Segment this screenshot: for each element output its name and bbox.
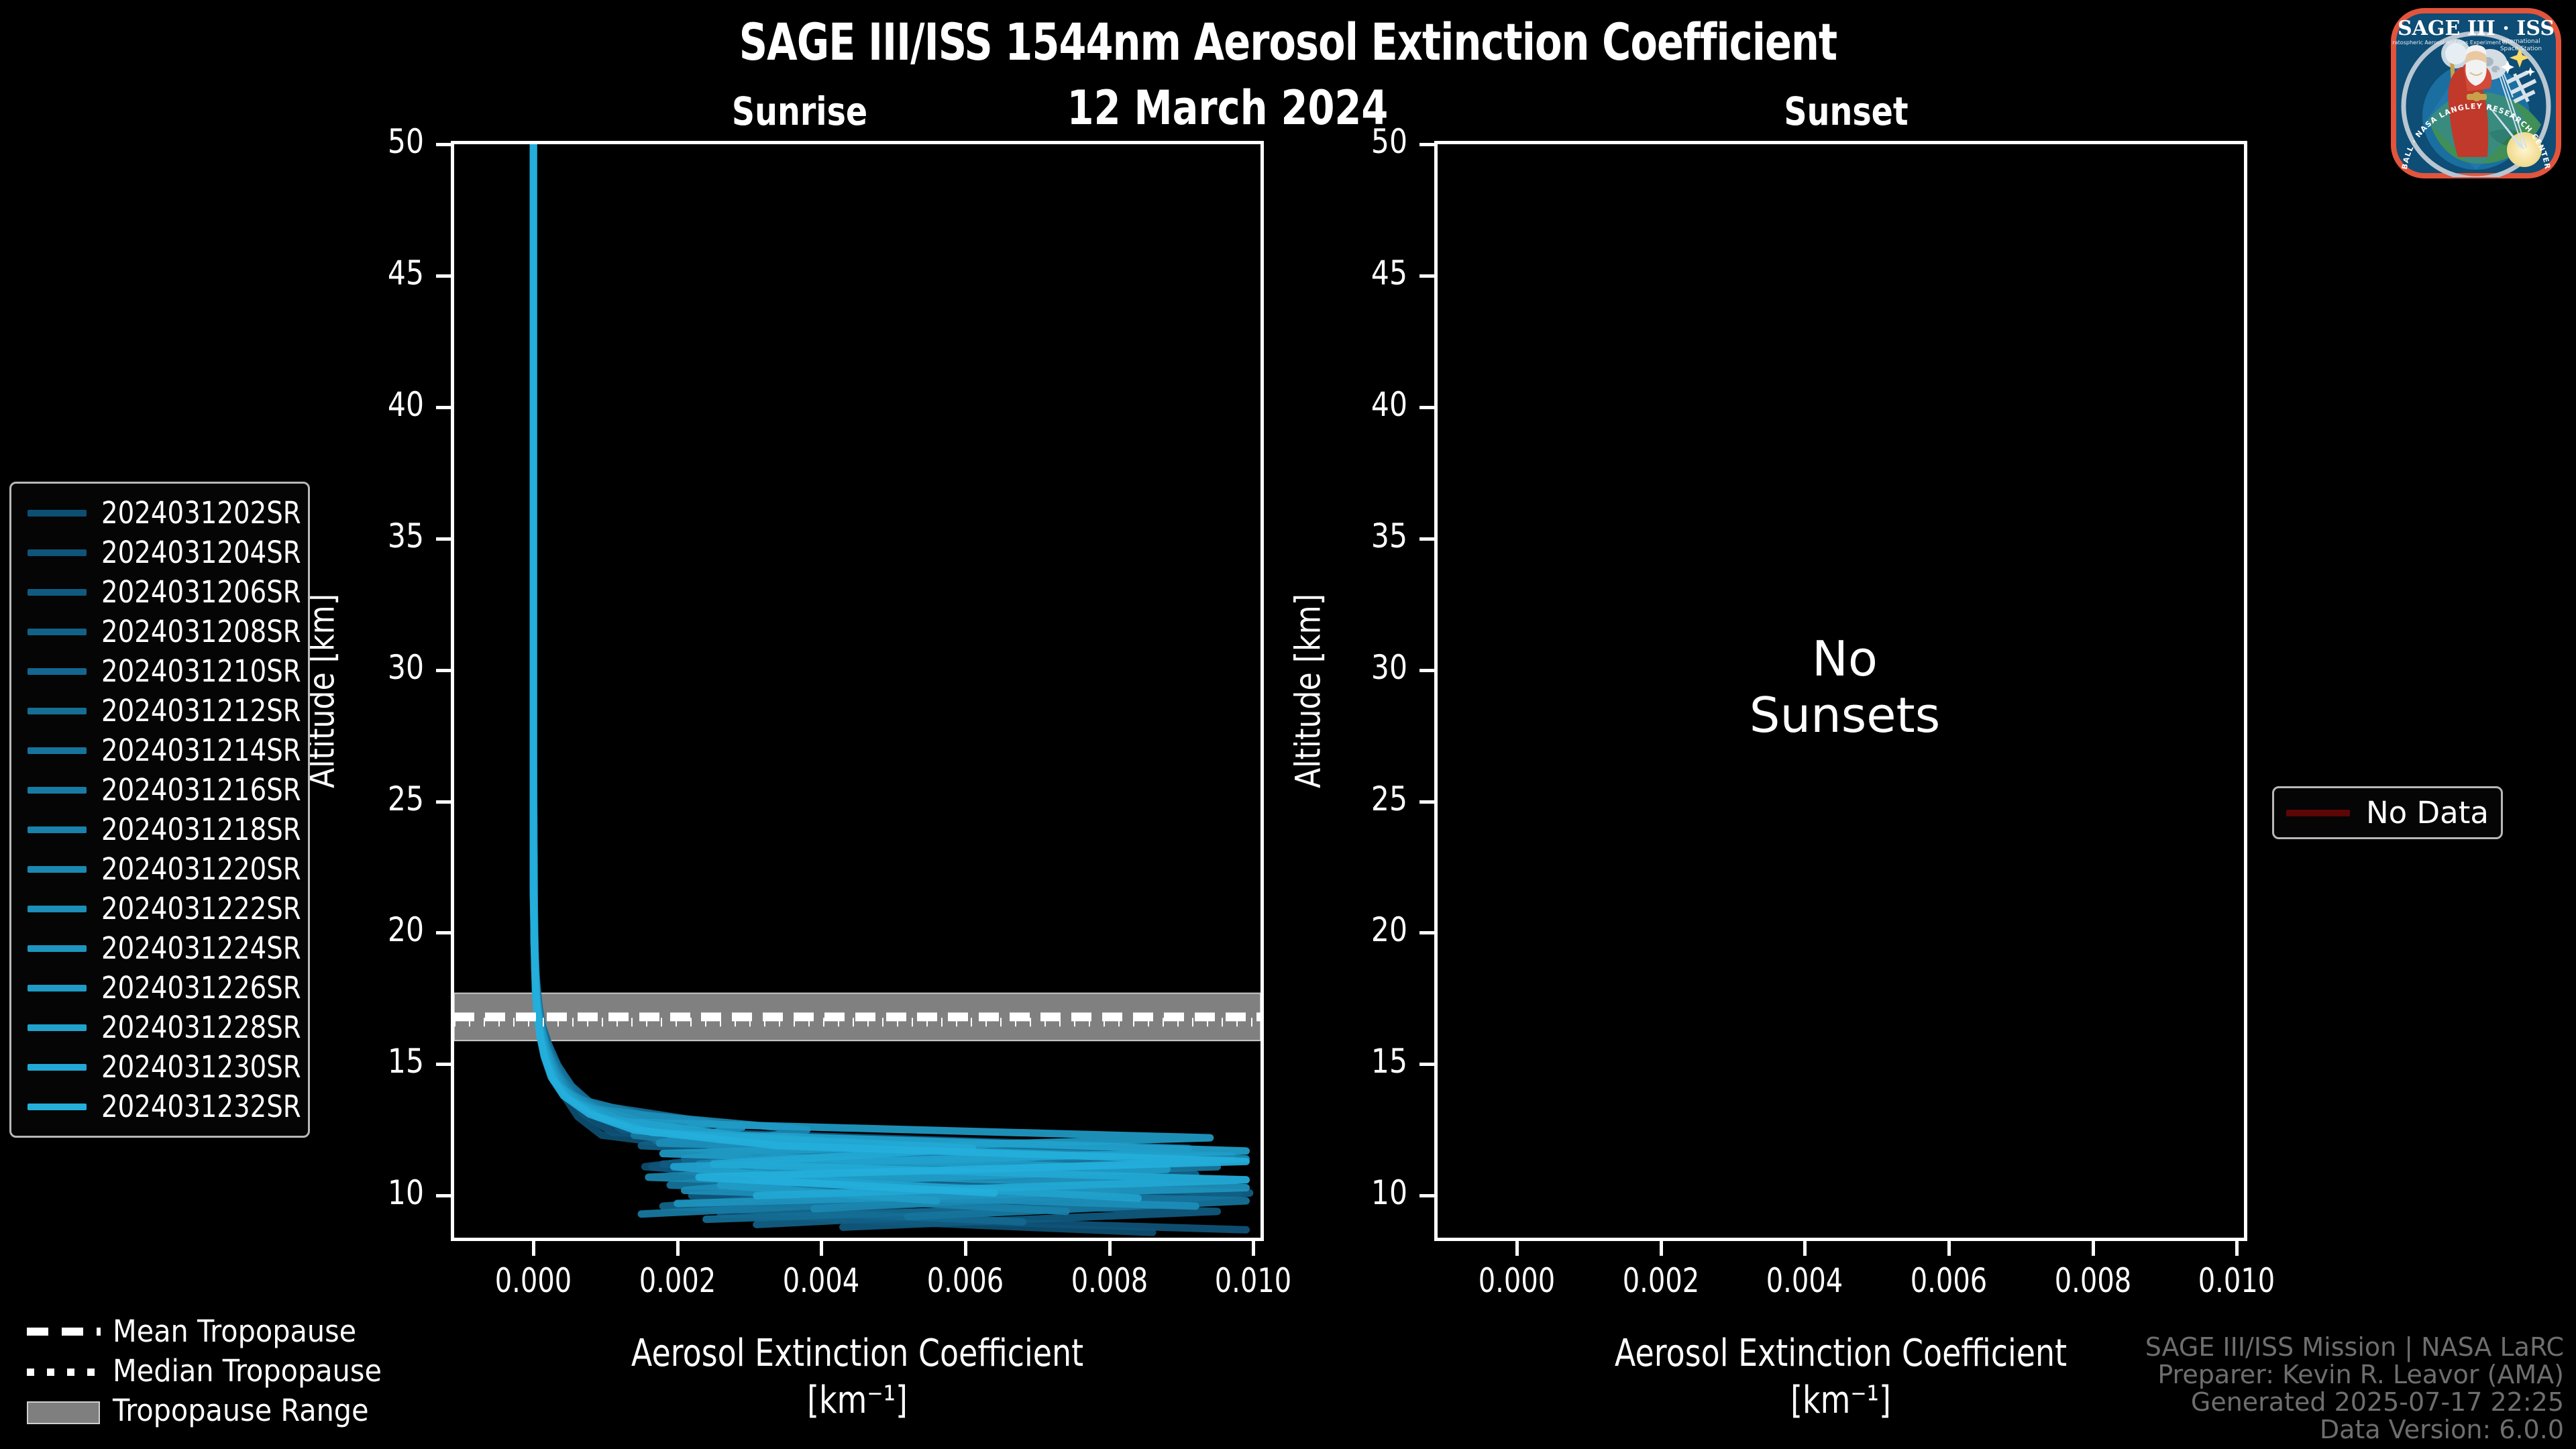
sunset-y-tick-label: 35 [1316,517,1407,555]
legend-item-label: 2024031218SR [101,812,301,847]
series-line-2024031210SR [533,144,1195,1222]
legend-item-label: 2024031210SR [101,653,301,689]
sunrise-x-tick-label: 0.008 [1051,1261,1169,1300]
sunrise-y-tick [436,143,451,146]
series-legend[interactable]: 2024031202SR2024031204SR2024031206SR2024… [9,482,310,1138]
legend-swatch-icon [28,1104,87,1110]
tropopause-legend-label: Median Tropopause [113,1353,382,1389]
no-data-label: No Data [2366,795,2489,830]
sunset-y-tick-label: 25 [1316,780,1407,818]
legend-item-2024031210SR[interactable]: 2024031210SR [18,651,301,691]
sunset-y-tick-label: 20 [1316,910,1407,949]
sunset-y-tick [1419,931,1434,934]
sunrise-y-tick-label: 15 [333,1042,424,1081]
tropopause-legend-item-dotted: Median Tropopause [13,1351,362,1391]
sunset-x-tick [2235,1241,2239,1256]
legend-swatch-icon [28,1064,87,1071]
sunset-x-axis-unit: [km⁻¹] [1507,1379,2174,1422]
sunrise-x-axis-unit: [km⁻¹] [524,1379,1191,1422]
legend-item-label: 2024031206SR [101,574,301,610]
legend-swatch-icon [28,589,87,596]
no-sunsets-message: No Sunsets [1610,631,2080,743]
series-line-2024031206SR [533,144,1218,1227]
legend-item-label: 2024031212SR [101,693,301,729]
sunrise-x-tick [532,1241,535,1256]
legend-item-2024031226SR[interactable]: 2024031226SR [18,968,301,1008]
series-line-2024031222SR [533,144,1246,1206]
series-line-2024031212SR [533,144,1232,1220]
logo-subtitle-right-2: Space Station [2500,46,2542,52]
legend-item-2024031202SR[interactable]: 2024031202SR [18,493,301,533]
legend-swatch-icon [28,549,87,556]
legend-item-2024031214SR[interactable]: 2024031214SR [18,731,301,770]
sunrise-x-tick-label: 0.004 [762,1261,880,1300]
legend-swatch-icon [28,510,87,517]
sunset-x-tick-label: 0.002 [1602,1261,1720,1300]
legend-item-label: 2024031214SR [101,733,301,768]
sunset-y-tick [1419,1063,1434,1066]
footer-credits: SAGE III/ISS Mission | NASA LaRC Prepare… [2145,1334,2564,1444]
sunset-y-tick-label: 40 [1316,385,1407,424]
sunrise-y-tick [436,274,451,278]
legend-item-label: 2024031226SR [101,970,301,1006]
series-line-2024031220SR [533,144,1116,1209]
legend-swatch-icon [28,747,87,754]
sunset-y-tick [1419,800,1434,804]
sunrise-y-tick [436,1063,451,1066]
logo-title: SAGE III · ISS [2398,17,2555,40]
sunrise-x-tick [820,1241,823,1256]
sunrise-y-tick-label: 40 [333,385,424,424]
legend-item-2024031232SR[interactable]: 2024031232SR [18,1087,301,1126]
sunset-y-tick [1419,537,1434,541]
sunset-x-tick [2092,1241,2095,1256]
sunset-x-tick [1660,1241,1663,1256]
sunrise-x-axis-label: Aerosol Extinction Coefficient [524,1332,1191,1375]
footer-preparer: Preparer: Kevin R. Leavor (AMA) [2145,1361,2564,1389]
sunset-x-tick-label: 0.010 [2178,1261,2296,1300]
legend-item-label: 2024031216SR [101,772,301,808]
legend-item-2024031208SR[interactable]: 2024031208SR [18,612,301,651]
legend-swatch-icon [28,826,87,833]
sunset-y-axis-label: Altitude [km] [1289,594,1329,788]
legend-item-label: 2024031232SR [101,1089,301,1124]
sunset-y-tick-label: 30 [1316,648,1407,687]
sunset-y-tick [1419,1194,1434,1197]
series-line-2024031226SR [533,144,1210,1201]
sunset-x-tick [1803,1241,1807,1256]
footer-mission: SAGE III/ISS Mission | NASA LaRC [2145,1334,2564,1361]
sunset-x-tick-label: 0.008 [2034,1261,2152,1300]
legend-item-label: 2024031220SR [101,851,301,887]
sunset-x-tick-label: 0.006 [1890,1261,2008,1300]
sunrise-y-tick-label: 10 [333,1173,424,1212]
footer-generated: Generated 2025-07-17 22:25 [2145,1389,2564,1416]
legend-swatch-icon [28,708,87,714]
series-line-2024031204SR [533,144,1246,1230]
legend-item-2024031222SR[interactable]: 2024031222SR [18,889,301,928]
sunrise-x-tick-label: 0.010 [1194,1261,1312,1300]
dotted-line-icon [27,1360,101,1383]
sunrise-y-tick-label: 25 [333,780,424,818]
legend-item-2024031204SR[interactable]: 2024031204SR [18,533,301,572]
sunrise-x-tick [1252,1241,1255,1256]
sunrise-x-tick [964,1241,967,1256]
legend-swatch-icon [28,866,87,873]
sunset-panel-title: Sunset [1670,89,2023,134]
tropopause-legend-label: Tropopause Range [113,1393,369,1428]
legend-item-2024031212SR[interactable]: 2024031212SR [18,691,301,731]
legend-swatch-icon [28,668,87,675]
legend-swatch-icon [28,629,87,635]
legend-swatch-icon [28,906,87,912]
sunset-y-tick-label: 45 [1316,254,1407,292]
sunrise-y-tick-label: 50 [333,122,424,161]
legend-swatch-icon [28,1024,87,1031]
tropopause-legend: Mean TropopauseMedian TropopauseTropopau… [13,1311,362,1430]
sunrise-x-tick [1108,1241,1112,1256]
sunrise-y-tick [436,800,451,804]
no-sunsets-line1: No [1610,631,2080,687]
legend-item-label: 2024031204SR [101,535,301,570]
sunrise-x-tick-label: 0.002 [619,1261,737,1300]
legend-item-2024031220SR[interactable]: 2024031220SR [18,849,301,889]
series-line-2024031216SR [533,144,1218,1214]
page-title: SAGE III/ISS 1544nm Aerosol Extinction C… [180,12,2396,72]
legend-swatch-icon [28,945,87,952]
series-line-2024031224SR [533,144,1246,1203]
sunrise-x-tick-label: 0.006 [906,1261,1024,1300]
legend-item-2024031216SR[interactable]: 2024031216SR [18,770,301,810]
legend-item-2024031224SR[interactable]: 2024031224SR [18,928,301,968]
sunset-x-tick [1947,1241,1951,1256]
range-band-icon [27,1399,101,1422]
sunset-x-axis-label: Aerosol Extinction Coefficient [1507,1332,2174,1375]
series-line-2024031214SR [533,144,1246,1217]
sunset-x-tick [1515,1241,1519,1256]
sunrise-y-tick-label: 30 [333,648,424,687]
legend-item-label: 2024031202SR [101,495,301,531]
legend-item-2024031228SR[interactable]: 2024031228SR [18,1008,301,1047]
date-subtitle: 12 March 2024 [953,80,1503,136]
sunset-y-tick [1419,274,1434,278]
sage-iii-iss-mission-patch-logo: SAGE III · ISS Stratospheric Aerosol and… [2388,5,2564,181]
sunrise-panel-title: Sunrise [624,89,976,134]
logo-subtitle-left: Stratospheric Aerosol and Gas Experiment… [2388,40,2508,46]
no-sunsets-line2: Sunsets [1610,687,2080,743]
series-line-2024031202SR [533,144,1239,1232]
no-data-legend[interactable]: No Data [2272,786,2503,839]
legend-swatch-icon [28,787,87,794]
sunrise-x-tick-label: 0.000 [474,1261,592,1300]
series-line-2024031208SR [533,144,1250,1224]
logo-subtitle-right-1: International [2502,38,2540,45]
sunset-y-tick [1419,143,1434,146]
legend-item-2024031230SR[interactable]: 2024031230SR [18,1047,301,1087]
sunrise-y-tick [436,537,451,541]
dashed-line-icon [27,1320,101,1343]
sunset-y-tick [1419,669,1434,672]
tropopause-legend-label: Mean Tropopause [113,1313,356,1349]
sunrise-x-tick [676,1241,680,1256]
sunrise-plot-area [451,141,1264,1241]
sunrise-y-tick-label: 20 [333,910,424,949]
footer-data-version: Data Version: 6.0.0 [2145,1416,2564,1444]
sunrise-y-tick [436,406,451,409]
legend-item-label: 2024031230SR [101,1049,301,1085]
sunrise-y-tick [436,931,451,934]
legend-item-label: 2024031224SR [101,930,301,966]
sunrise-y-tick-label: 35 [333,517,424,555]
legend-swatch-icon [28,985,87,991]
no-data-swatch-icon [2286,810,2350,816]
tropopause-legend-item-band: Tropopause Range [13,1391,362,1430]
legend-item-2024031218SR[interactable]: 2024031218SR [18,810,301,849]
legend-item-label: 2024031222SR [101,891,301,926]
series-line-2024031218SR [533,144,1246,1212]
sunrise-y-tick [436,669,451,672]
legend-item-2024031206SR[interactable]: 2024031206SR [18,572,301,612]
sunrise-data-canvas [454,144,1260,1238]
sunset-y-tick-label: 10 [1316,1173,1407,1212]
legend-item-label: 2024031228SR [101,1010,301,1045]
sunset-y-tick-label: 15 [1316,1042,1407,1081]
sunset-y-tick [1419,406,1434,409]
sunset-y-tick-label: 50 [1316,122,1407,161]
sunrise-y-tick [436,1194,451,1197]
sunset-x-tick-label: 0.004 [1746,1261,1864,1300]
tropopause-legend-item-dashed: Mean Tropopause [13,1311,362,1351]
legend-item-label: 2024031208SR [101,614,301,649]
sunset-x-tick-label: 0.000 [1458,1261,1576,1300]
sunrise-y-tick-label: 45 [333,254,424,292]
